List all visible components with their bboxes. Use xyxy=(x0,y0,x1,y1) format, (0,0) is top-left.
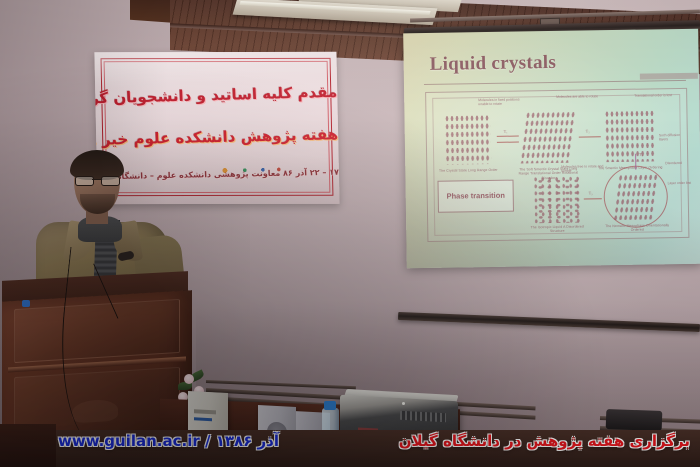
foreground-furniture xyxy=(0,424,56,467)
director-arrow xyxy=(635,154,636,170)
speaker-glasses xyxy=(75,176,120,184)
dark-equipment-box xyxy=(606,409,663,431)
soft-smectic-note: Molecules are able to rotate xyxy=(556,94,602,99)
transition-label-3: T₃ xyxy=(589,190,593,195)
layer-order-lost-note: Layer order lost xyxy=(668,181,692,186)
isotropic-liquid-block xyxy=(533,177,580,224)
projection-screen: Liquid crystals The Crystal State Long R… xyxy=(403,29,700,269)
water-bottle-cap xyxy=(324,401,336,410)
slide-diagram-frame: The Crystal State Long Range Order Molec… xyxy=(425,88,689,242)
flower-blossom xyxy=(184,374,194,384)
photo-canvas: Liquid crystals The Crystal State Long R… xyxy=(0,0,700,467)
transition-label-1: T₁ xyxy=(504,129,508,134)
diffusion-layers-note: Such diffusion layers xyxy=(659,133,687,142)
isotropic-liquid-caption: The Isotropic Liquid A Disordered Struct… xyxy=(526,224,588,234)
caption-event-title: برگزاری هفته پژوهش در دانشگاه گیلان xyxy=(399,432,690,450)
slide-title-accent xyxy=(640,73,698,80)
projector-indicator-light xyxy=(402,402,405,405)
transition-label-2: T₂ xyxy=(586,128,590,133)
caption-separator: / xyxy=(200,432,216,450)
nematic-mesophase-caption: The Nematic Mesophase Orientationally Or… xyxy=(604,223,670,233)
podium-blue-object xyxy=(22,300,30,307)
soft-smectic-block xyxy=(520,111,576,164)
disordered-note: Disordered xyxy=(665,161,689,166)
slide-title: Liquid crystals xyxy=(429,52,556,76)
tower-label xyxy=(194,417,212,421)
crystal-state-block xyxy=(444,114,491,165)
phase-transition-box: Phase transition xyxy=(437,180,513,213)
phase-transition-label: Phase transition xyxy=(439,191,513,201)
glasses-bridge xyxy=(92,179,103,180)
transition-label-4: T₄ xyxy=(639,152,643,157)
crystal-state-note: Molecules in fixed positions unable to r… xyxy=(478,97,522,107)
rotate-tumble-note: Molecules free to rotate and tumble xyxy=(561,164,609,174)
nematic-mesophase-block xyxy=(613,173,659,220)
smectic-mesophase-block xyxy=(604,109,655,162)
translational-order-note: Translational order is lost xyxy=(634,93,678,98)
caption-website-and-date: www.guilan.ac.ir / آذر ۱۳۸۶ xyxy=(58,432,279,450)
tower-drive-bay xyxy=(194,409,216,414)
caption-date: آذر ۱۳۸۶ xyxy=(216,432,279,450)
caption-url: www.guilan.ac.ir xyxy=(58,432,200,450)
